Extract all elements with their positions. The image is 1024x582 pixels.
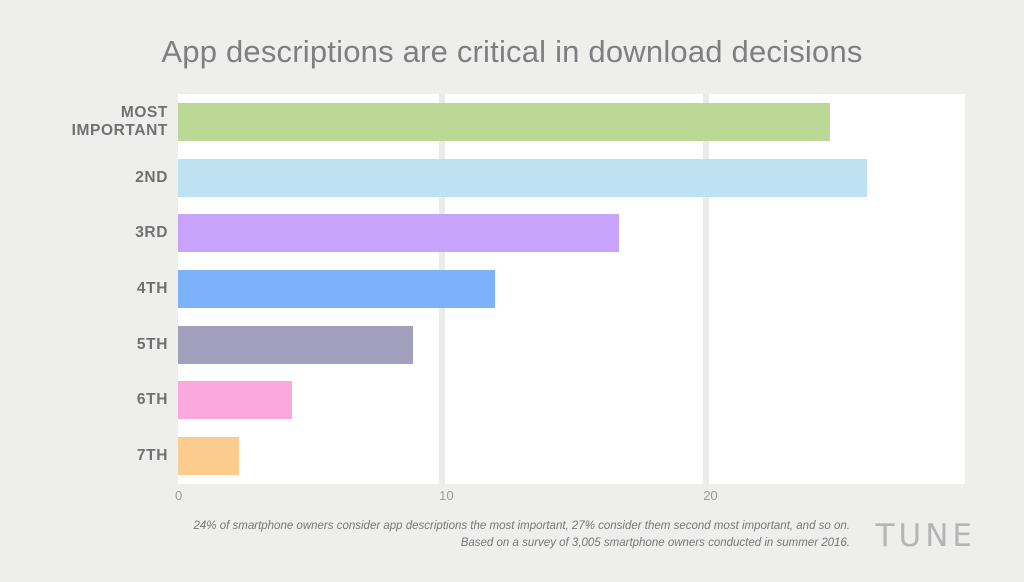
x-tick-label-0: 0 (175, 488, 182, 503)
plot-area (178, 94, 965, 484)
bar-3[interactable] (178, 270, 495, 308)
footnote-line-1: 24% of smartphone owners consider app de… (150, 518, 850, 535)
y-axis-label-0: MOSTIMPORTANT (8, 104, 168, 140)
bar-0[interactable] (178, 103, 830, 141)
y-axis-label-6: 7TH (8, 447, 168, 465)
y-axis-label-1: 2ND (8, 169, 168, 187)
y-axis-label-5: 6TH (8, 391, 168, 409)
y-axis-label-2: 3RD (8, 224, 168, 242)
bar-4[interactable] (178, 326, 413, 364)
chart-title: App descriptions are critical in downloa… (0, 34, 1024, 70)
bar-2[interactable] (178, 214, 619, 252)
y-axis-category-labels: MOSTIMPORTANT2ND3RD4TH5TH6TH7TH (0, 94, 168, 484)
y-axis-label-4: 5TH (8, 336, 168, 354)
gridline-x-20 (703, 94, 709, 484)
x-tick-label-20: 20 (703, 488, 717, 503)
x-tick-label-10: 10 (439, 488, 453, 503)
footnote-line-2: Based on a survey of 3,005 smartphone ow… (150, 535, 850, 552)
bar-chart-figure: App descriptions are critical in downloa… (0, 0, 1024, 582)
bar-6[interactable] (178, 437, 239, 475)
tune-logo: TUNE (876, 518, 976, 554)
bar-1[interactable] (178, 159, 867, 197)
chart-footnote: 24% of smartphone owners consider app de… (150, 518, 850, 552)
bar-5[interactable] (178, 381, 292, 419)
x-axis-tick-labels: 01020 (178, 488, 965, 508)
y-axis-label-3: 4TH (8, 280, 168, 298)
